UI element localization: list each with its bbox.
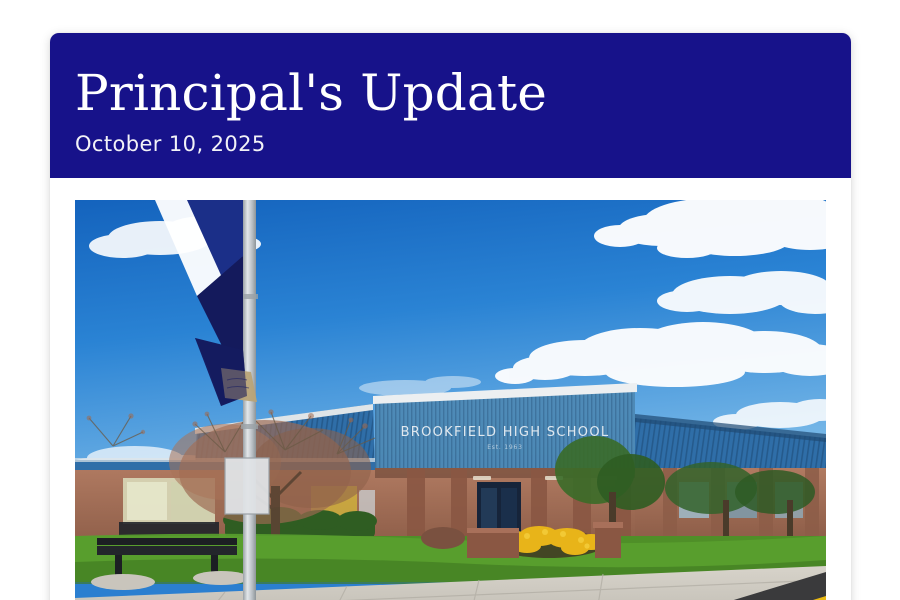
card-body: BROOKFIELD HIGH SCHOOL Est. 1963 (50, 178, 851, 600)
card-header: Principal's Update October 10, 2025 (50, 33, 851, 178)
hero-photo-illustration: BROOKFIELD HIGH SCHOOL Est. 1963 (75, 200, 826, 600)
building-sign-text: BROOKFIELD HIGH SCHOOL (401, 425, 610, 440)
page-root: Principal's Update October 10, 2025 (0, 0, 900, 600)
pole-sign-box (225, 458, 269, 514)
publication-date: October 10, 2025 (75, 132, 826, 156)
building-sign-subtext: Est. 1963 (487, 444, 523, 451)
hero-photo: BROOKFIELD HIGH SCHOOL Est. 1963 (75, 200, 826, 600)
newsletter-card: Principal's Update October 10, 2025 (50, 33, 851, 600)
page-title: Principal's Update (75, 67, 826, 120)
